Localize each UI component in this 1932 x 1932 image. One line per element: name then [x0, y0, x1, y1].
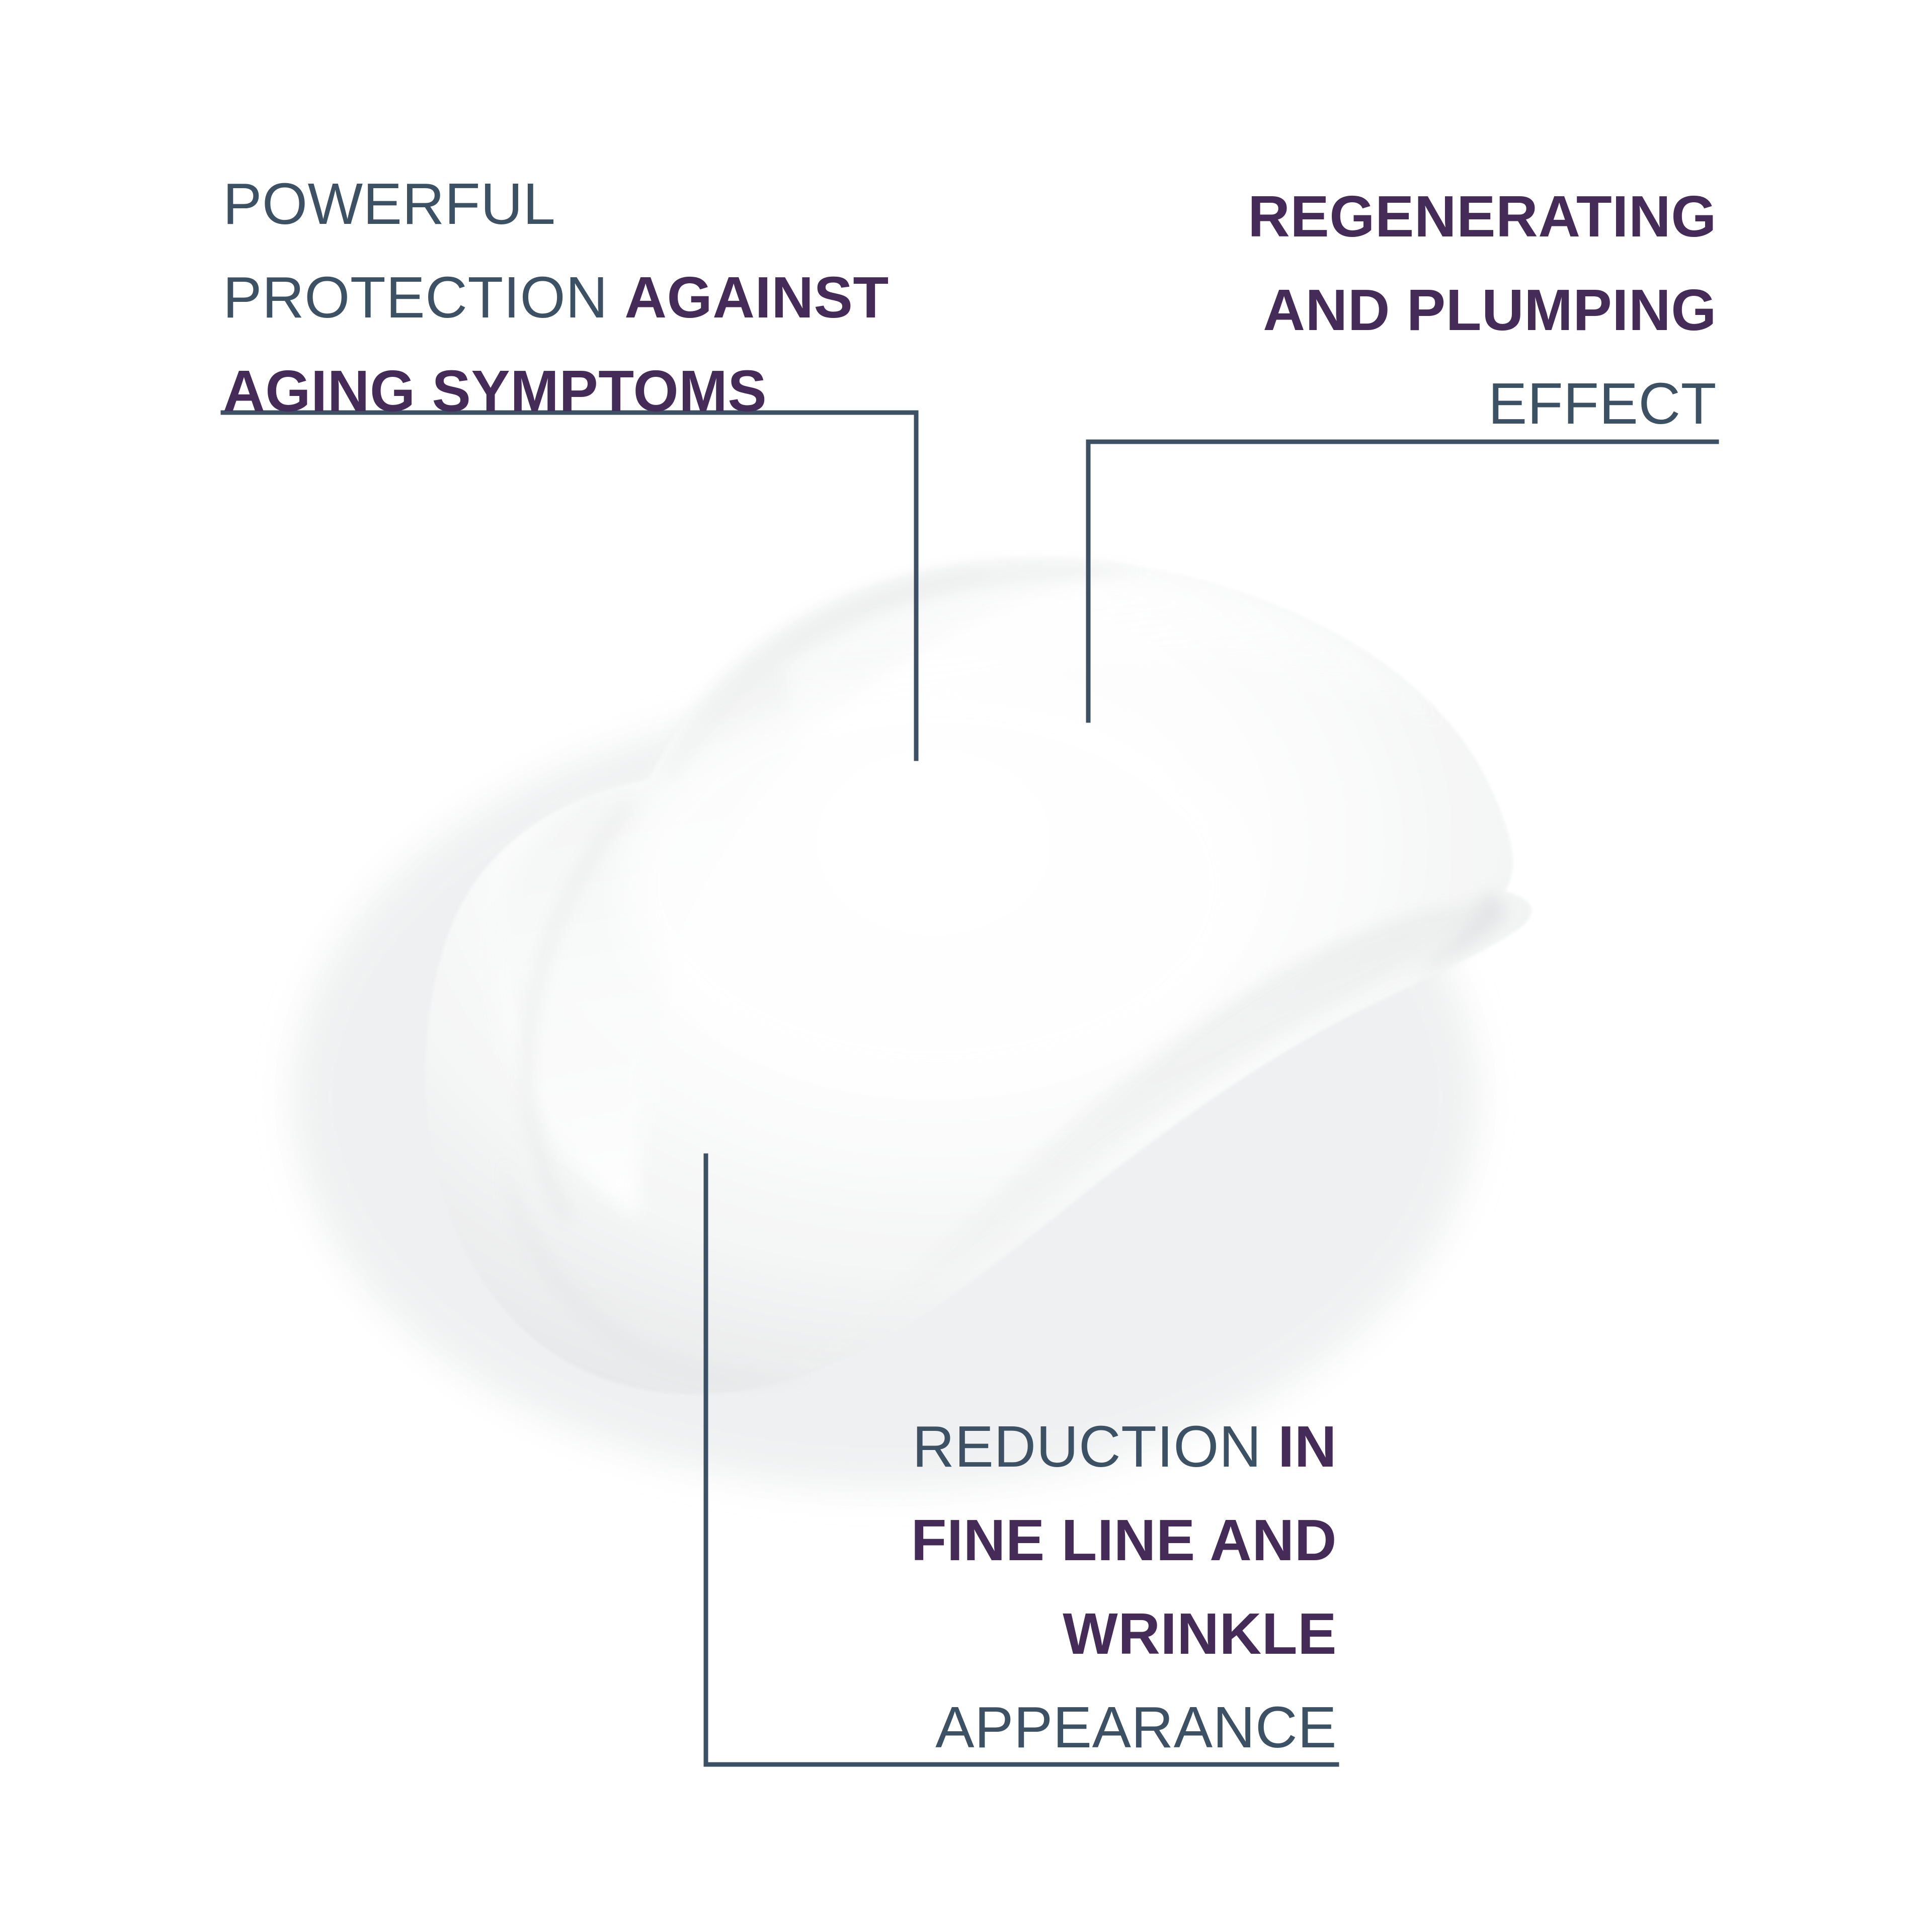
callout-text-bold: AND PLUMPING	[1263, 277, 1717, 343]
callout-text-bold: WRINKLE	[1063, 1601, 1337, 1666]
callout-text-light: EFFECT	[1488, 371, 1717, 436]
callout-line: PROTECTION AGAINST	[223, 260, 889, 353]
callout-text-light: POWERFUL	[223, 171, 555, 236]
callout-line: AGING SYMPTOMS	[223, 353, 889, 447]
callout-line: FINE LINE AND	[911, 1502, 1337, 1596]
callout-text-bold: FINE LINE AND	[911, 1507, 1337, 1573]
callout-line: WRINKLE	[911, 1596, 1337, 1689]
callout-line: APPEARANCE	[911, 1689, 1337, 1783]
callout-regenerating-plumping: REGENERATING AND PLUMPING EFFECT	[1248, 179, 1717, 459]
infographic-canvas: POWERFUL PROTECTION AGAINST AGING SYMPTO…	[0, 0, 1932, 1932]
callout-text-light: PROTECTION	[223, 265, 624, 330]
callout-text-bold: AGAINST	[624, 265, 889, 330]
callout-text-bold: REGENERATING	[1248, 184, 1717, 249]
callout-text-light: REDUCTION	[912, 1414, 1278, 1479]
callout-line: AND PLUMPING	[1248, 272, 1717, 366]
callout-line: REDUCTION IN	[911, 1409, 1337, 1502]
callout-text-bold: IN	[1278, 1414, 1337, 1479]
callout-line: EFFECT	[1248, 366, 1717, 459]
callout-line: REGENERATING	[1248, 179, 1717, 272]
leader-line-top-right	[1088, 442, 1717, 720]
leader-line-top-left	[223, 413, 916, 759]
callout-text-light: APPEARANCE	[935, 1695, 1337, 1760]
callout-wrinkle-reduction: REDUCTION IN FINE LINE AND WRINKLE APPEA…	[911, 1409, 1337, 1783]
callout-text-bold: AGING SYMPTOMS	[223, 358, 767, 424]
callout-powerful-protection: POWERFUL PROTECTION AGAINST AGING SYMPTO…	[223, 166, 889, 447]
callout-line: POWERFUL	[223, 166, 889, 260]
